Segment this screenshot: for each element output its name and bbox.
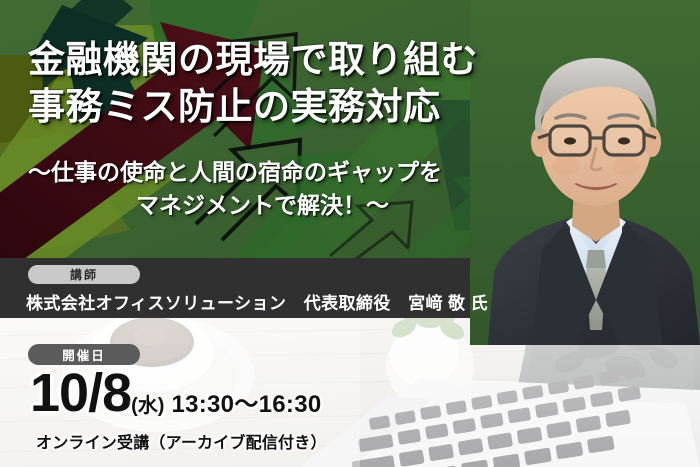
subtitle-block: 〜仕事の使命と人間の宿命のギャップを マネジメントで解決！〜: [0, 156, 520, 223]
event-time: 13:30〜16:30: [164, 393, 321, 420]
subtitle-line-1: 〜仕事の使命と人間の宿命のギャップを: [28, 156, 520, 189]
lecturer-badge: 講師: [28, 265, 140, 284]
date-badge: 開催日: [28, 344, 140, 365]
speaker-name: 株式会社オフィスソリューション 代表取締役 宮﨑 敬 氏: [26, 289, 488, 314]
title-line-1: 金融機関の現場で取り組む: [28, 36, 520, 83]
seminar-banner: 金融機関の現場で取り組む 事務ミス防止の実務対応 〜仕事の使命と人間の宿命のギャ…: [0, 0, 700, 467]
subtitle-line-2: マネジメントで解決！〜: [28, 189, 520, 222]
title-line-2: 事務ミス防止の実務対応: [28, 83, 520, 130]
event-day-of-week: (水): [131, 396, 164, 420]
title-block: 金融機関の現場で取り組む 事務ミス防止の実務対応: [0, 36, 520, 131]
event-date: 10/8: [30, 366, 131, 420]
date-row: 10/8 (水) 13:30〜16:30: [30, 366, 322, 420]
delivery-note: オンライン受講（アーカイブ配信付き）: [36, 429, 327, 453]
